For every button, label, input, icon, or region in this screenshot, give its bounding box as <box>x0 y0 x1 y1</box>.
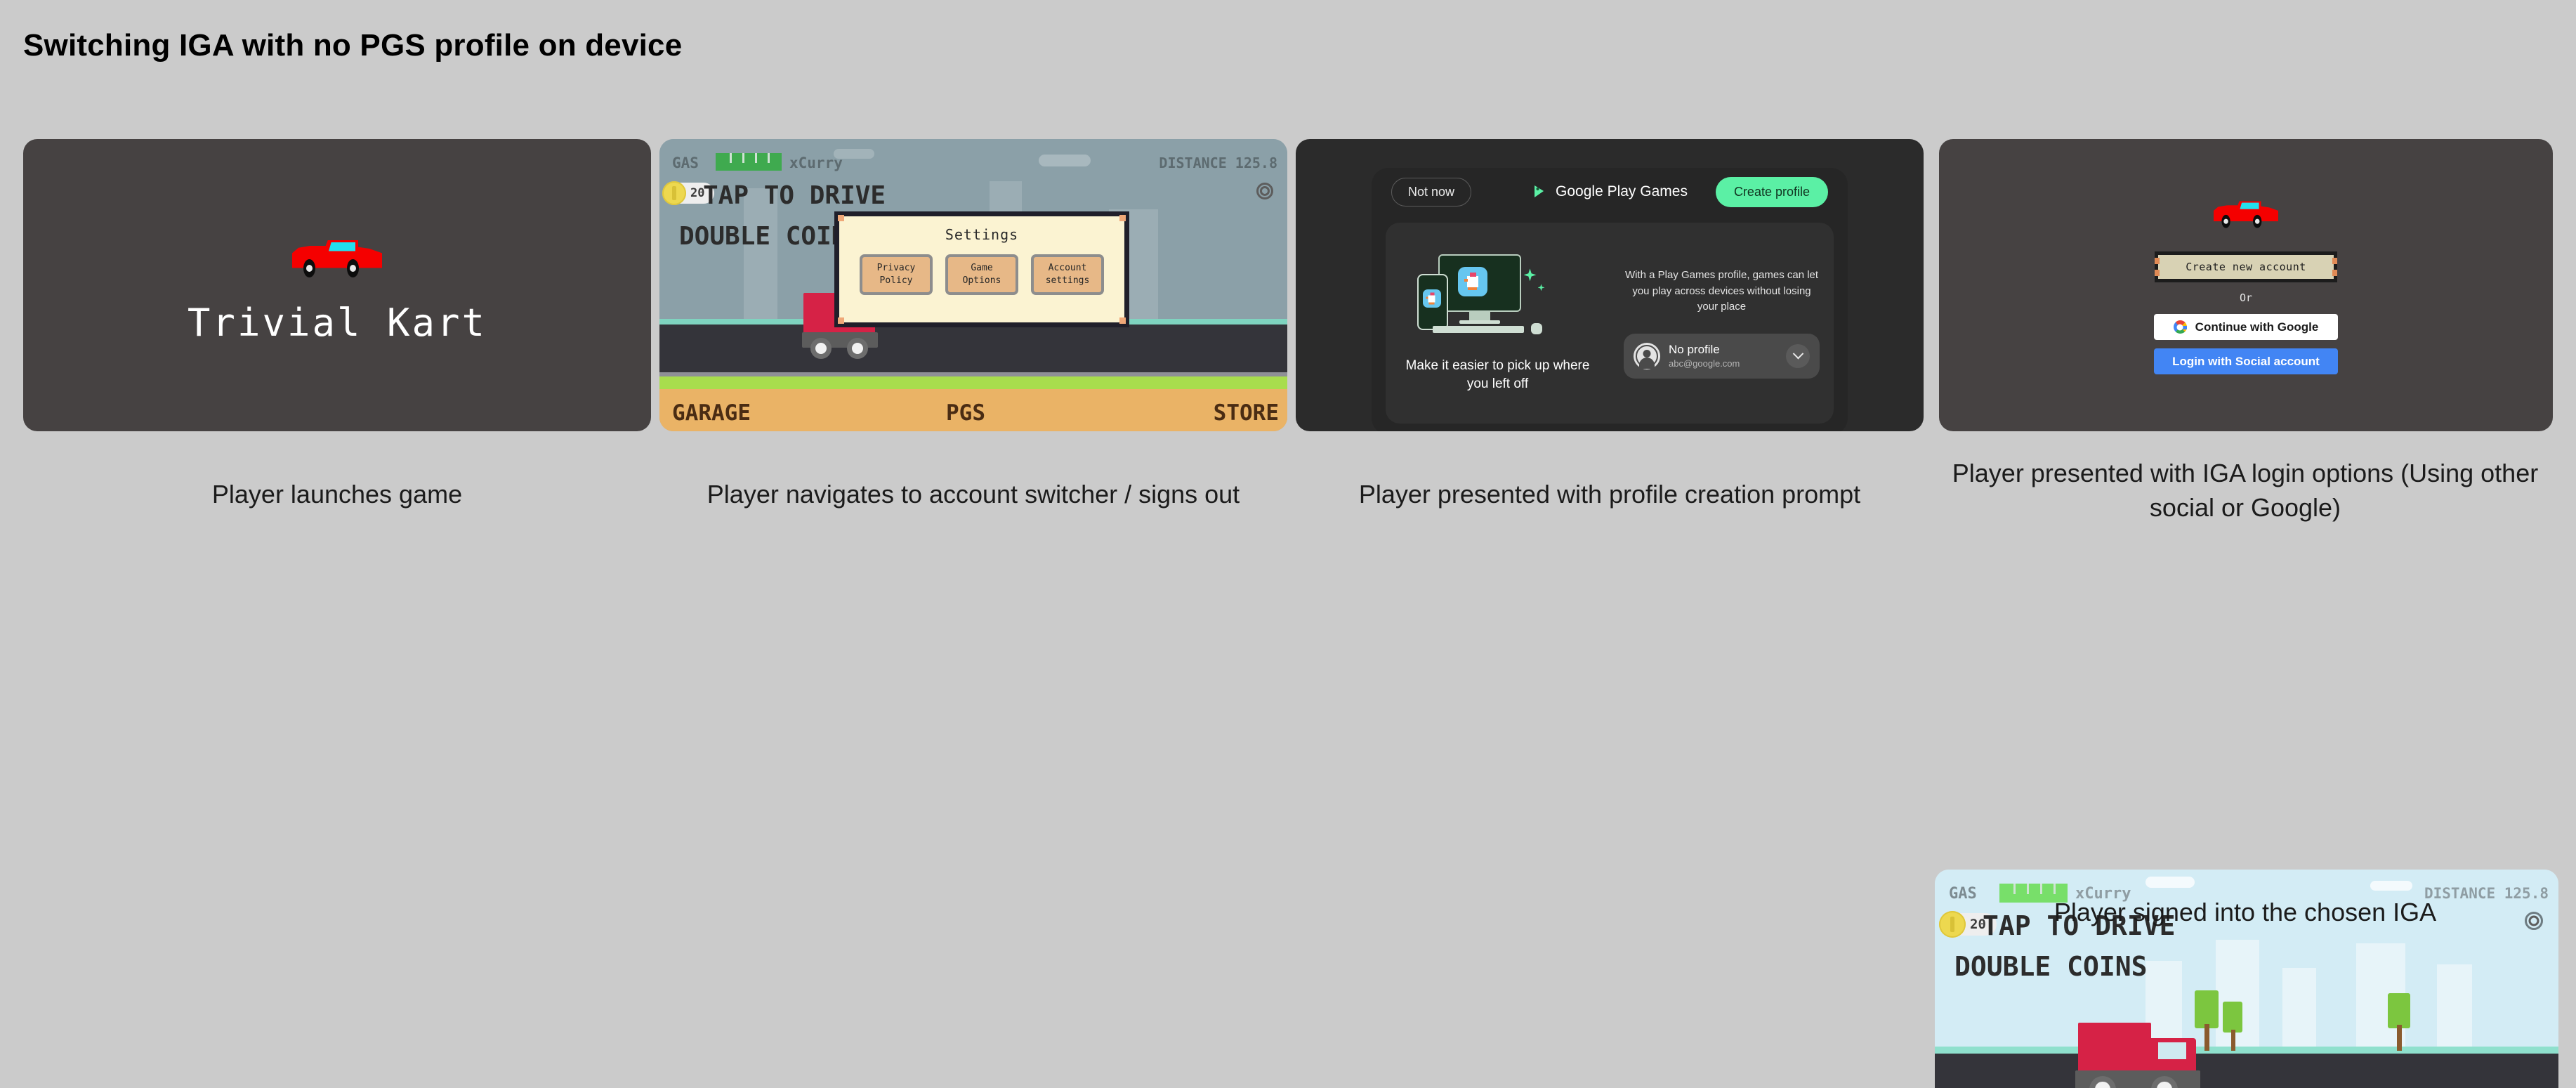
skyline-building <box>2282 968 2316 1054</box>
panel-account-switcher: GAS xCurry DISTANCE 125.8 20 TAP TO DRIV… <box>659 139 1287 431</box>
page-title: Switching IGA with no PGS profile on dev… <box>23 28 682 63</box>
drive-prompt-line1: TAP TO DRIVE <box>703 181 886 210</box>
account-settings-button[interactable]: Account settings <box>1031 254 1104 295</box>
cloud <box>2145 877 2195 888</box>
cloud <box>1039 155 1091 166</box>
road <box>659 325 1287 374</box>
pgs-left-column: Make it easier to pick up where you left… <box>1386 223 1610 424</box>
game-title: Trivial Kart <box>188 301 487 345</box>
pgs-brand: Google Play Games <box>1532 183 1688 200</box>
nav-store[interactable]: STORE <box>1214 400 1279 426</box>
game-icon-small <box>1423 289 1441 308</box>
tree-icon <box>2388 993 2412 1051</box>
privacy-policy-label-2: Policy <box>880 275 913 287</box>
cross-device-illustration <box>1414 253 1582 346</box>
account-settings-label-1: Account <box>1049 262 1087 275</box>
nav-garage[interactable]: GARAGE <box>672 400 751 426</box>
create-new-account-button[interactable]: Create new account <box>2155 251 2337 282</box>
panel-caption-1: Player launches game <box>23 478 651 512</box>
profile-selector-chip[interactable]: No profile abc@google.com <box>1624 334 1820 379</box>
game-options-button[interactable]: Game Options <box>945 254 1018 295</box>
pgs-body: Make it easier to pick up where you left… <box>1386 223 1834 424</box>
panel-iga-login-options: Create new account Or Continue with Goog… <box>1939 139 2553 431</box>
create-profile-button[interactable]: Create profile <box>1716 177 1828 207</box>
gas-bar <box>716 153 782 171</box>
google-g-icon <box>2174 320 2187 334</box>
gas-label: GAS <box>672 155 699 171</box>
pgs-card: Not now Google Play Games Create profile <box>1372 168 1848 431</box>
pgs-right-column: With a Play Games profile, games can let… <box>1610 223 1834 424</box>
or-divider-label: Or <box>2240 291 2252 304</box>
truck-icon <box>2075 1018 2209 1088</box>
panel-caption-3: Player presented with profile creation p… <box>1296 478 1924 512</box>
panel-pgs-profile-prompt: Not now Google Play Games Create profile <box>1296 139 1924 431</box>
road <box>1935 1054 2558 1088</box>
game-icon-large <box>1458 267 1487 296</box>
account-settings-label-2: settings <box>1046 275 1090 287</box>
chevron-down-icon[interactable] <box>1786 344 1810 368</box>
settings-dialog-title: Settings <box>839 226 1124 243</box>
chicken-icon <box>1426 292 1438 306</box>
sparkle-icon <box>1524 268 1537 281</box>
profile-email: abc@google.com <box>1669 358 1777 369</box>
pixel-car-icon <box>288 226 386 282</box>
panel-caption-4: Player presented with IGA login options … <box>1922 457 2568 525</box>
login-with-social-label: Login with Social account <box>2172 355 2320 369</box>
gear-icon[interactable] <box>1256 183 1273 199</box>
pixel-car-icon <box>2211 191 2282 232</box>
profile-name: No profile <box>1669 343 1777 357</box>
drive-prompt-line2: DOUBLE COINS <box>1954 951 2148 982</box>
settings-dialog: Settings Privacy Policy Game Options Acc… <box>834 211 1129 327</box>
not-now-button[interactable]: Not now <box>1391 178 1471 207</box>
login-with-social-button[interactable]: Login with Social account <box>2154 348 2338 374</box>
cloud <box>2370 881 2412 891</box>
pgs-left-caption: Make it easier to pick up where you left… <box>1397 357 1598 393</box>
sparkle-icon <box>1538 284 1545 291</box>
game-options-label-1: Game <box>971 262 992 275</box>
skyline-building <box>2437 964 2472 1054</box>
pgs-description: With a Play Games profile, games can let… <box>1624 268 1820 315</box>
panel-caption-2: Player navigates to account switcher / s… <box>659 478 1287 512</box>
horizon <box>1935 1047 2558 1054</box>
privacy-policy-button[interactable]: Privacy Policy <box>860 254 933 295</box>
distance-label: DISTANCE 125.8 <box>1159 155 1277 171</box>
tree-icon <box>2223 1002 2244 1051</box>
panel-caption-5: Player signed into the chosen IGA <box>1922 896 2568 930</box>
continue-with-google-label: Continue with Google <box>2195 320 2319 334</box>
nav-pgs[interactable]: PGS <box>946 400 985 426</box>
create-new-account-label: Create new account <box>2186 261 2306 273</box>
pgs-brand-label: Google Play Games <box>1556 183 1688 200</box>
account-circle-icon <box>1634 343 1660 369</box>
continue-with-google-button[interactable]: Continue with Google <box>2154 314 2338 340</box>
game-options-label-2: Options <box>963 275 1001 287</box>
chicken-icon <box>1464 271 1482 292</box>
play-games-icon <box>1532 183 1549 200</box>
player-username: xCurry <box>789 155 843 171</box>
panel-game-splash: Trivial Kart <box>23 139 651 431</box>
pgs-header: Not now Google Play Games Create profile <box>1372 168 1848 216</box>
dirt-zigzag <box>659 389 1287 399</box>
privacy-policy-label-1: Privacy <box>877 262 916 275</box>
